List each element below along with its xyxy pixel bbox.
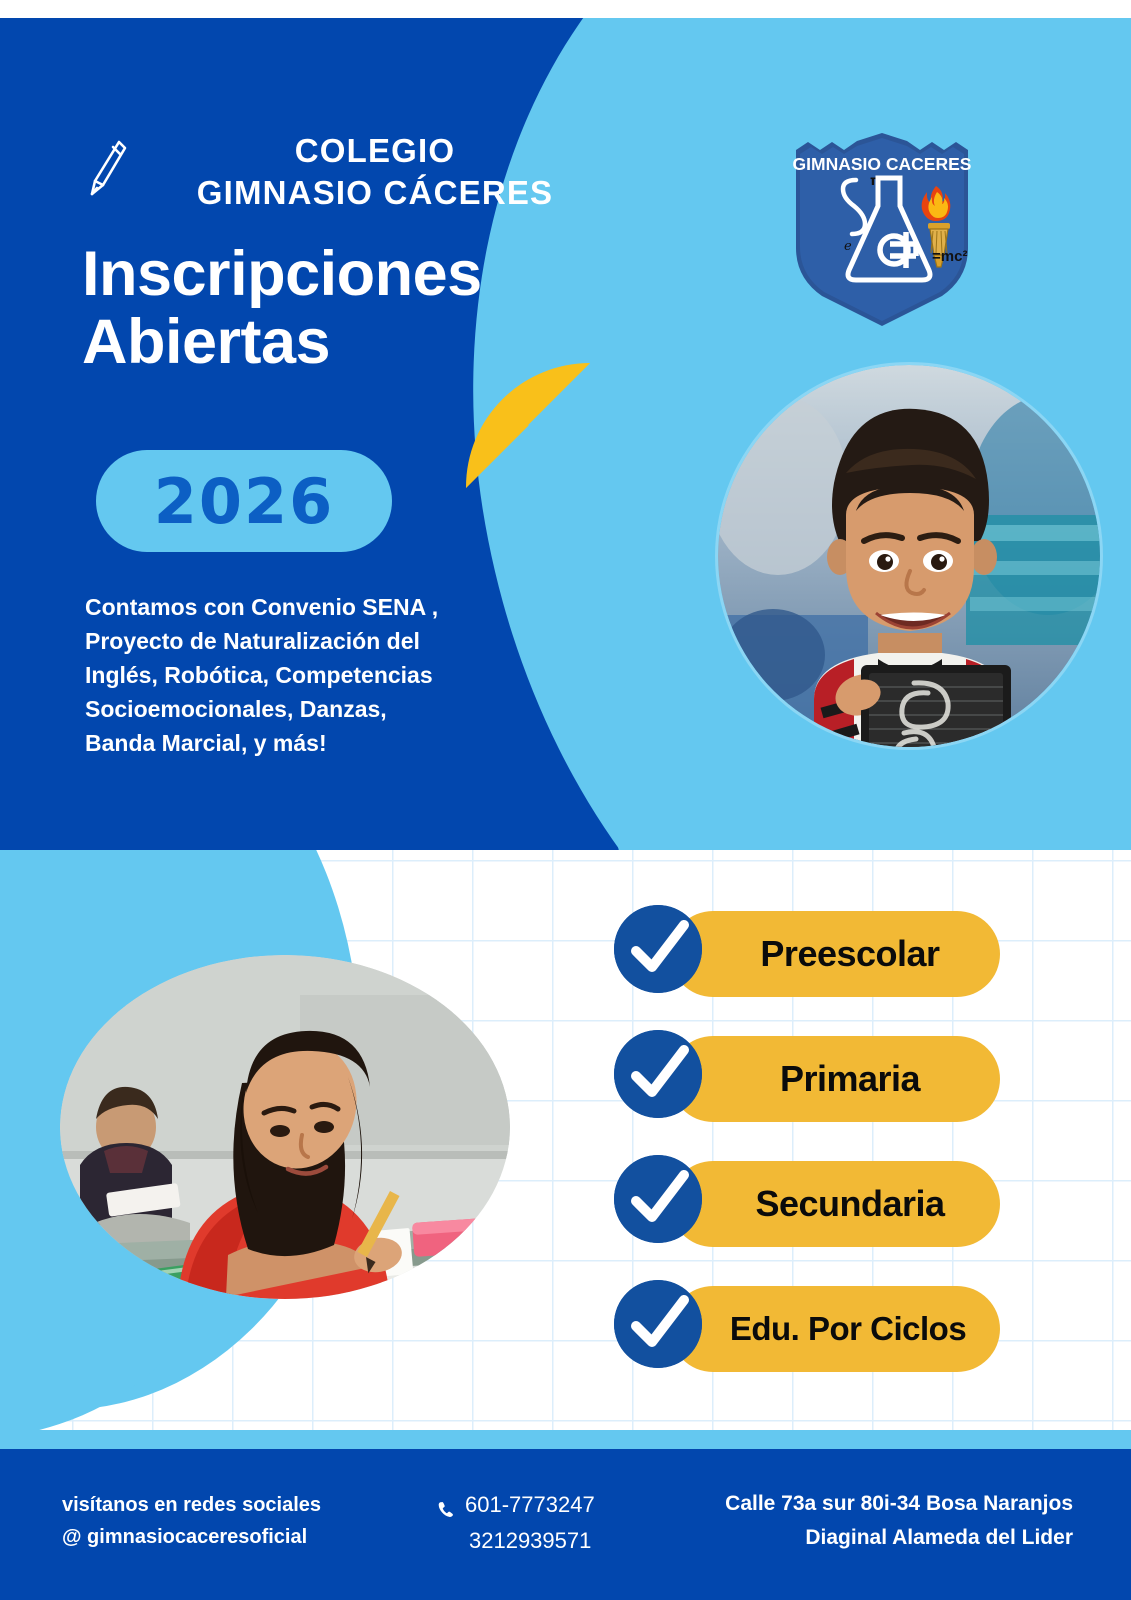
level-item-preescolar[interactable]: Preescolar — [600, 905, 1020, 1005]
program-description: Contamos con Convenio SENA , Proyecto de… — [85, 590, 555, 760]
crest-formula: =mc² — [932, 248, 967, 265]
level-pill[interactable]: Preescolar — [670, 911, 1000, 997]
address-line-1: Calle 73a sur 80i-34 Bosa Naranjos — [673, 1487, 1073, 1521]
phone-info: 601-7773247 3212939571 — [436, 1487, 656, 1558]
kicker-line-2: GIMNASIO CÁCERES — [160, 172, 590, 214]
check-icon — [614, 905, 702, 993]
phone-number-1[interactable]: 601-7773247 — [465, 1487, 595, 1523]
girl-student-photo — [60, 955, 510, 1300]
check-icon — [614, 1030, 702, 1118]
blurb-line-3: Inglés, Robótica, Competencias — [85, 658, 555, 692]
level-label: Edu. Por Ciclos — [704, 1310, 966, 1348]
level-pill[interactable]: Secundaria — [670, 1161, 1000, 1247]
blurb-line-1: Contamos con Convenio SENA , — [85, 590, 555, 624]
pencil-icon — [86, 136, 130, 208]
year-label: 2026 — [154, 465, 335, 538]
light-blue-divider-strip — [0, 1430, 1131, 1449]
phone-number-2[interactable]: 3212939571 — [436, 1523, 656, 1559]
social-info: visítanos en redes sociales @ gimnasioca… — [62, 1489, 402, 1554]
boy-student-photo — [718, 365, 1100, 747]
blurb-line-2: Proyecto de Naturalización del — [85, 624, 555, 658]
title-line-2: Abiertas — [82, 308, 602, 376]
education-levels-list: Preescolar Primaria Secundaria — [600, 905, 1020, 1405]
school-crest-logo: GIMNASIO CACERES π e =mc² — [782, 128, 982, 328]
check-icon — [614, 1155, 702, 1243]
level-item-edu-por-ciclos[interactable]: Edu. Por Ciclos — [600, 1280, 1020, 1380]
blurb-line-4: Socioemocionales, Danzas, — [85, 692, 555, 726]
title-line-1: Inscripciones — [82, 240, 602, 308]
check-icon — [614, 1280, 702, 1368]
address-info: Calle 73a sur 80i-34 Bosa Naranjos Diagi… — [673, 1487, 1073, 1555]
level-item-primaria[interactable]: Primaria — [600, 1030, 1020, 1130]
level-pill[interactable]: Primaria — [670, 1036, 1000, 1122]
kicker-heading: COLEGIO GIMNASIO CÁCERES — [160, 130, 590, 213]
level-item-secundaria[interactable]: Secundaria — [600, 1155, 1020, 1255]
level-pill[interactable]: Edu. Por Ciclos — [670, 1286, 1000, 1372]
phone-icon — [436, 1495, 456, 1515]
address-line-2: Diaginal Alameda del Lider — [673, 1521, 1073, 1555]
page-title: Inscripciones Abiertas — [82, 240, 602, 376]
social-prompt: visítanos en redes sociales — [62, 1489, 402, 1521]
blurb-line-5: Banda Marcial, y más! — [85, 726, 555, 760]
top-margin-strip — [0, 0, 1131, 18]
year-badge: 2026 — [96, 450, 392, 552]
crest-school-name: GIMNASIO CACERES — [793, 154, 972, 174]
footer-bar: visítanos en redes sociales @ gimnasioca… — [0, 1449, 1131, 1600]
level-label: Preescolar — [730, 933, 939, 975]
level-label: Secundaria — [725, 1183, 944, 1225]
social-handle[interactable]: @ gimnasiocaceresoficial — [62, 1521, 402, 1553]
kicker-line-1: COLEGIO — [160, 130, 590, 172]
svg-text:e: e — [844, 239, 852, 254]
level-label: Primaria — [750, 1058, 920, 1100]
